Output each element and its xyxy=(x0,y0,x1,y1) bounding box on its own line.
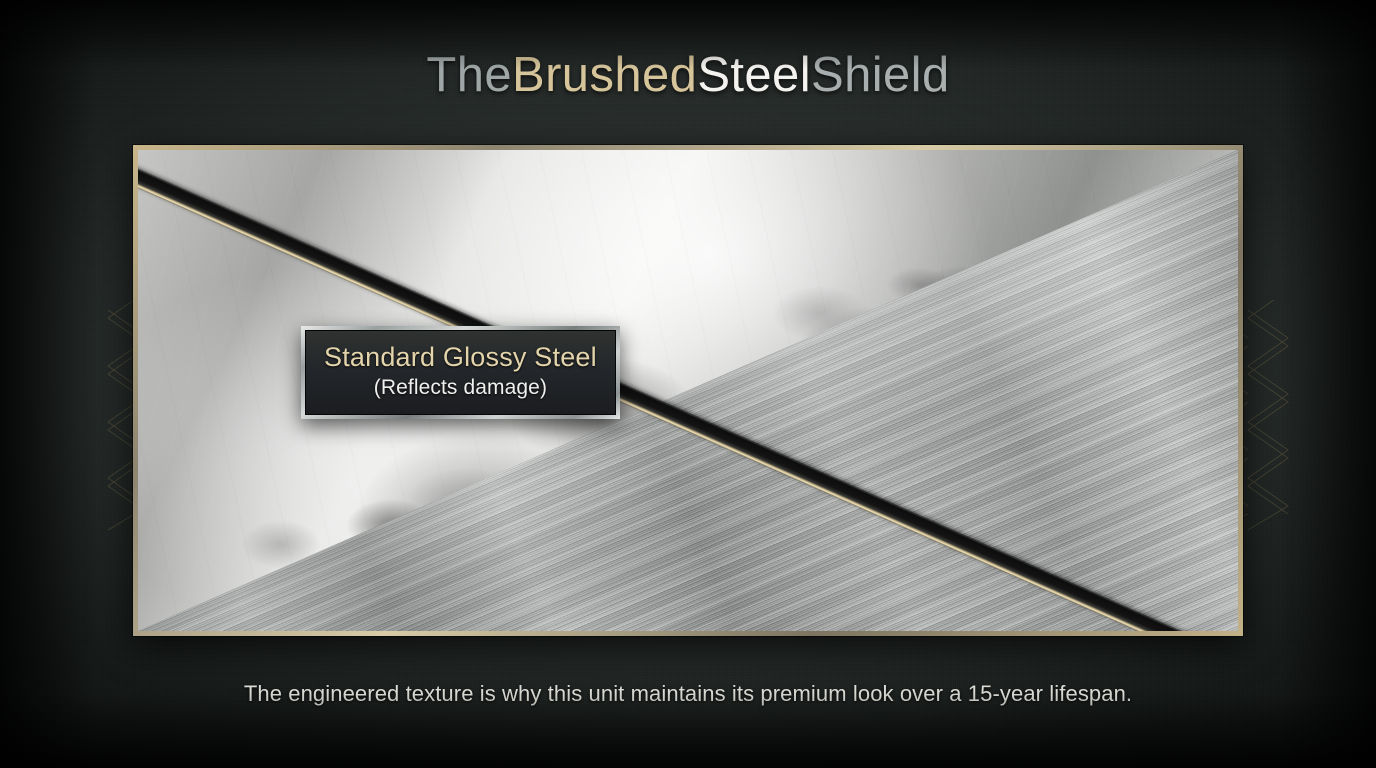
title-word-steel: Steel xyxy=(697,44,811,106)
callout-plate-glossy-face: Standard Glossy Steel (Reflects damage) xyxy=(305,330,616,415)
callout-glossy-label: Standard Glossy Steel xyxy=(324,340,597,374)
callout-glossy-sublabel: (Reflects damage) xyxy=(324,374,597,402)
title-word-brushed: Brushed xyxy=(512,44,697,106)
slide-title: The Brushed Steel Shield xyxy=(0,44,1376,106)
comparison-panel-frame: Standard Glossy Steel (Reflects damage) … xyxy=(133,145,1243,636)
title-word-the: The xyxy=(426,44,512,106)
title-word-shield: Shield xyxy=(811,44,950,106)
comparison-panel-inner: Standard Glossy Steel (Reflects damage) … xyxy=(138,150,1238,631)
slide-caption: The engineered texture is why this unit … xyxy=(0,678,1376,710)
slide-root: The Brushed Steel Shield Standard Glossy… xyxy=(0,0,1376,768)
callout-plate-glossy[interactable]: Standard Glossy Steel (Reflects damage) xyxy=(301,326,620,419)
